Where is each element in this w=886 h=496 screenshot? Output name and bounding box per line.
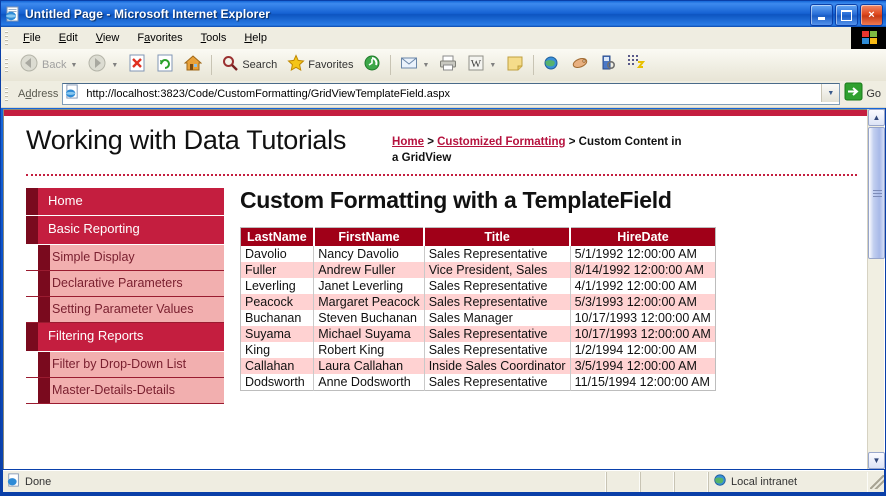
sidebar-item-declarative-parameters[interactable]: Declarative Parameters bbox=[26, 271, 224, 297]
printer-icon bbox=[439, 54, 457, 77]
toolbar-separator bbox=[211, 55, 212, 75]
table-row: DavolioNancy DavolioSales Representative… bbox=[241, 246, 716, 262]
menu-bar: File Edit View Favorites Tools Help bbox=[1, 27, 886, 50]
table-row: PeacockMargaret PeacockSales Representat… bbox=[241, 294, 716, 310]
cell-title: Sales Representative bbox=[424, 278, 570, 294]
cell-hiredate: 10/17/1993 12:00:00 AM bbox=[570, 310, 715, 326]
page-body: Home Basic Reporting Simple Display Decl… bbox=[4, 176, 869, 404]
column-header-lastname[interactable]: LastName bbox=[241, 228, 314, 247]
history-icon bbox=[363, 54, 381, 77]
browser-window: Untitled Page - Microsoft Internet Explo… bbox=[0, 0, 886, 496]
cell-hiredate: 1/2/1994 12:00:00 AM bbox=[570, 342, 715, 358]
main-content: Custom Formatting with a TemplateField L… bbox=[224, 188, 869, 404]
menu-favorites[interactable]: Favorites bbox=[128, 30, 191, 46]
site-title: Working with Data Tutorials bbox=[26, 126, 346, 154]
word-edit-icon: W bbox=[467, 54, 485, 77]
back-label: Back bbox=[42, 59, 66, 71]
status-bar: Done Local intranet bbox=[3, 470, 884, 492]
page-icon bbox=[65, 84, 80, 104]
sidebar-item-basic-reporting[interactable]: Basic Reporting bbox=[26, 216, 224, 244]
cell-title: Sales Representative bbox=[424, 342, 570, 358]
sidebar-nav: Home Basic Reporting Simple Display Decl… bbox=[4, 188, 224, 404]
back-chevron-down-icon[interactable]: ▼ bbox=[70, 62, 77, 69]
table-row: BuchananSteven BuchananSales Manager10/1… bbox=[241, 310, 716, 326]
cell-firstname: Janet Leverling bbox=[314, 278, 424, 294]
cell-firstname: Robert King bbox=[314, 342, 424, 358]
cell-firstname: Michael Suyama bbox=[314, 326, 424, 342]
cell-title: Sales Representative bbox=[424, 294, 570, 310]
go-button[interactable]: Go bbox=[842, 80, 886, 108]
stop-icon bbox=[128, 54, 146, 77]
toolbar-separator-3 bbox=[533, 55, 534, 75]
cell-title: Inside Sales Coordinator bbox=[424, 358, 570, 374]
title-bar: Untitled Page - Microsoft Internet Explo… bbox=[1, 1, 886, 27]
cell-lastname: Peacock bbox=[241, 294, 314, 310]
window-controls: × bbox=[810, 4, 883, 26]
star-icon bbox=[287, 54, 305, 77]
ie-brand-logo bbox=[851, 27, 886, 49]
globe-icon bbox=[713, 473, 727, 490]
globe-icon bbox=[543, 54, 561, 77]
sidebar-item-master-details-details[interactable]: Master-Details-Details bbox=[26, 378, 224, 404]
column-header-hiredate[interactable]: HireDate bbox=[570, 228, 715, 247]
cell-firstname: Nancy Davolio bbox=[314, 246, 424, 262]
table-row: LeverlingJanet LeverlingSales Representa… bbox=[241, 278, 716, 294]
edit-chevron-down-icon[interactable]: ▼ bbox=[489, 62, 496, 69]
employees-gridview: LastName FirstName Title HireDate Davoli… bbox=[240, 227, 716, 391]
mail-button[interactable]: ▼ bbox=[395, 50, 434, 81]
scrollbar-grip bbox=[873, 190, 882, 197]
favorites-label: Favorites bbox=[308, 59, 353, 71]
status-pane-2 bbox=[640, 472, 674, 492]
cell-lastname: Dodsworth bbox=[241, 374, 314, 391]
cell-hiredate: 8/14/1992 12:00:00 AM bbox=[570, 262, 715, 278]
sidebar-item-simple-display[interactable]: Simple Display bbox=[26, 245, 224, 271]
address-url-text: http://localhost:3823/Code/CustomFormatt… bbox=[86, 88, 450, 100]
print-button[interactable] bbox=[434, 50, 462, 81]
cell-hiredate: 5/1/1992 12:00:00 AM bbox=[570, 246, 715, 262]
menu-file[interactable]: File bbox=[14, 30, 50, 46]
mail-icon bbox=[400, 54, 418, 77]
table-row: SuyamaMichael SuyamaSales Representative… bbox=[241, 326, 716, 342]
column-header-title[interactable]: Title bbox=[424, 228, 570, 247]
cell-firstname: Andrew Fuller bbox=[314, 262, 424, 278]
window-title: Untitled Page - Microsoft Internet Explo… bbox=[25, 7, 270, 21]
table-row: CallahanLaura CallahanInside Sales Coord… bbox=[241, 358, 716, 374]
forward-chevron-down-icon[interactable]: ▼ bbox=[111, 62, 118, 69]
sidebar-item-setting-parameter-values[interactable]: Setting Parameter Values bbox=[26, 297, 224, 323]
search-icon bbox=[221, 54, 239, 77]
encoding-icon bbox=[627, 54, 645, 77]
discuss-button[interactable] bbox=[538, 50, 566, 81]
scrollbar-thumb[interactable] bbox=[868, 127, 885, 259]
close-button[interactable]: × bbox=[860, 4, 883, 26]
status-pane-1 bbox=[606, 472, 640, 492]
svg-text:W: W bbox=[471, 58, 482, 70]
toolbar-gripper[interactable] bbox=[3, 57, 11, 73]
security-zone-label: Local intranet bbox=[731, 476, 797, 488]
address-bar: Address http://localhost:3823/Code/Custo… bbox=[1, 81, 886, 108]
favorites-button[interactable]: Favorites bbox=[282, 50, 358, 81]
cell-hiredate: 10/17/1993 12:00:00 AM bbox=[570, 326, 715, 342]
minimize-button[interactable] bbox=[810, 4, 833, 26]
cell-hiredate: 5/3/1993 12:00:00 AM bbox=[570, 294, 715, 310]
home-button[interactable] bbox=[179, 50, 207, 81]
menu-tools[interactable]: Tools bbox=[192, 30, 236, 46]
forward-button[interactable]: ▼ bbox=[82, 49, 123, 82]
page-status-icon bbox=[7, 473, 21, 490]
toolbar-separator-2 bbox=[390, 55, 391, 75]
page-viewport: Working with Data Tutorials Home > Custo… bbox=[3, 109, 885, 469]
cell-title: Sales Manager bbox=[424, 310, 570, 326]
toolbar: Back ▼ ▼ bbox=[1, 49, 886, 82]
table-row: KingRobert KingSales Representative1/2/1… bbox=[241, 342, 716, 358]
cell-lastname: Callahan bbox=[241, 358, 314, 374]
messenger-icon bbox=[571, 54, 589, 77]
breadcrumb-section-link[interactable]: Customized Formatting bbox=[437, 136, 565, 148]
cell-lastname: Buchanan bbox=[241, 310, 314, 326]
back-arrow-icon bbox=[19, 53, 39, 78]
cell-lastname: Fuller bbox=[241, 262, 314, 278]
cell-title: Sales Representative bbox=[424, 326, 570, 342]
go-arrow-icon bbox=[844, 82, 863, 106]
table-body: DavolioNancy DavolioSales Representative… bbox=[241, 246, 716, 391]
research-icon bbox=[599, 54, 617, 77]
sidebar-item-filtering-reports[interactable]: Filtering Reports bbox=[26, 323, 224, 351]
maximize-button[interactable] bbox=[835, 4, 858, 26]
table-row: DodsworthAnne DodsworthSales Representat… bbox=[241, 374, 716, 391]
refresh-button[interactable] bbox=[151, 50, 179, 81]
stop-button[interactable] bbox=[123, 50, 151, 81]
address-chevron-down-icon[interactable]: ▼ bbox=[821, 84, 839, 102]
security-zone-pane[interactable]: Local intranet bbox=[708, 472, 868, 492]
status-text: Done bbox=[25, 476, 51, 488]
resize-grip[interactable] bbox=[870, 475, 884, 489]
encoding-button[interactable] bbox=[622, 50, 650, 81]
go-label: Go bbox=[866, 88, 881, 100]
cell-firstname: Margaret Peacock bbox=[314, 294, 424, 310]
cell-lastname: Leverling bbox=[241, 278, 314, 294]
table-header-row: LastName FirstName Title HireDate bbox=[241, 228, 716, 247]
search-label: Search bbox=[242, 59, 277, 71]
table-row: FullerAndrew FullerVice President, Sales… bbox=[241, 262, 716, 278]
column-header-firstname[interactable]: FirstName bbox=[314, 228, 424, 247]
forward-arrow-icon bbox=[87, 53, 107, 78]
web-page: Working with Data Tutorials Home > Custo… bbox=[4, 110, 869, 469]
cell-firstname: Laura Callahan bbox=[314, 358, 424, 374]
menu-edit[interactable]: Edit bbox=[50, 30, 87, 46]
ie-page-icon bbox=[5, 6, 21, 22]
address-gripper[interactable] bbox=[3, 86, 11, 102]
cell-title: Vice President, Sales bbox=[424, 262, 570, 278]
status-pane-3 bbox=[674, 472, 708, 492]
messenger-button[interactable] bbox=[566, 50, 594, 81]
cell-hiredate: 3/5/1994 12:00:00 AM bbox=[570, 358, 715, 374]
scroll-up-button[interactable]: ▲ bbox=[868, 109, 885, 126]
vertical-scrollbar[interactable]: ▲ ▼ bbox=[867, 109, 884, 469]
cell-lastname: Suyama bbox=[241, 326, 314, 342]
search-button[interactable]: Search bbox=[216, 50, 282, 81]
breadcrumb-separator-1: > bbox=[427, 136, 434, 148]
scroll-down-button[interactable]: ▼ bbox=[868, 452, 885, 469]
cell-lastname: King bbox=[241, 342, 314, 358]
cell-lastname: Davolio bbox=[241, 246, 314, 262]
sidebar-item-filter-by-drop-down-list[interactable]: Filter by Drop-Down List bbox=[26, 352, 224, 378]
address-input[interactable]: http://localhost:3823/Code/CustomFormatt… bbox=[62, 83, 840, 105]
cell-hiredate: 4/1/1992 12:00:00 AM bbox=[570, 278, 715, 294]
refresh-icon bbox=[156, 54, 174, 77]
breadcrumb: Home > Customized Formatting > Custom Co… bbox=[392, 135, 682, 166]
sidebar-item-home[interactable]: Home bbox=[26, 188, 224, 216]
breadcrumb-home-link[interactable]: Home bbox=[392, 136, 424, 148]
note-icon bbox=[506, 54, 524, 77]
cell-title: Sales Representative bbox=[424, 374, 570, 391]
cell-firstname: Anne Dodsworth bbox=[314, 374, 424, 391]
menu-help[interactable]: Help bbox=[235, 30, 276, 46]
cell-title: Sales Representative bbox=[424, 246, 570, 262]
cell-hiredate: 11/15/1994 12:00:00 AM bbox=[570, 374, 715, 391]
notes-button[interactable] bbox=[501, 50, 529, 81]
menu-view[interactable]: View bbox=[87, 30, 129, 46]
research-button[interactable] bbox=[594, 50, 622, 81]
mail-chevron-down-icon[interactable]: ▼ bbox=[422, 62, 429, 69]
home-icon bbox=[184, 54, 202, 77]
menu-gripper[interactable] bbox=[3, 30, 11, 46]
cell-firstname: Steven Buchanan bbox=[314, 310, 424, 326]
back-button[interactable]: Back ▼ bbox=[14, 49, 82, 82]
breadcrumb-separator-2: > bbox=[569, 136, 576, 148]
address-label: Address bbox=[18, 88, 58, 100]
history-button[interactable] bbox=[358, 50, 386, 81]
status-message-pane: Done bbox=[3, 472, 606, 492]
edit-button[interactable]: W ▼ bbox=[462, 50, 501, 81]
page-header: Working with Data Tutorials Home > Custo… bbox=[4, 116, 869, 172]
page-title: Custom Formatting with a TemplateField bbox=[240, 188, 855, 213]
